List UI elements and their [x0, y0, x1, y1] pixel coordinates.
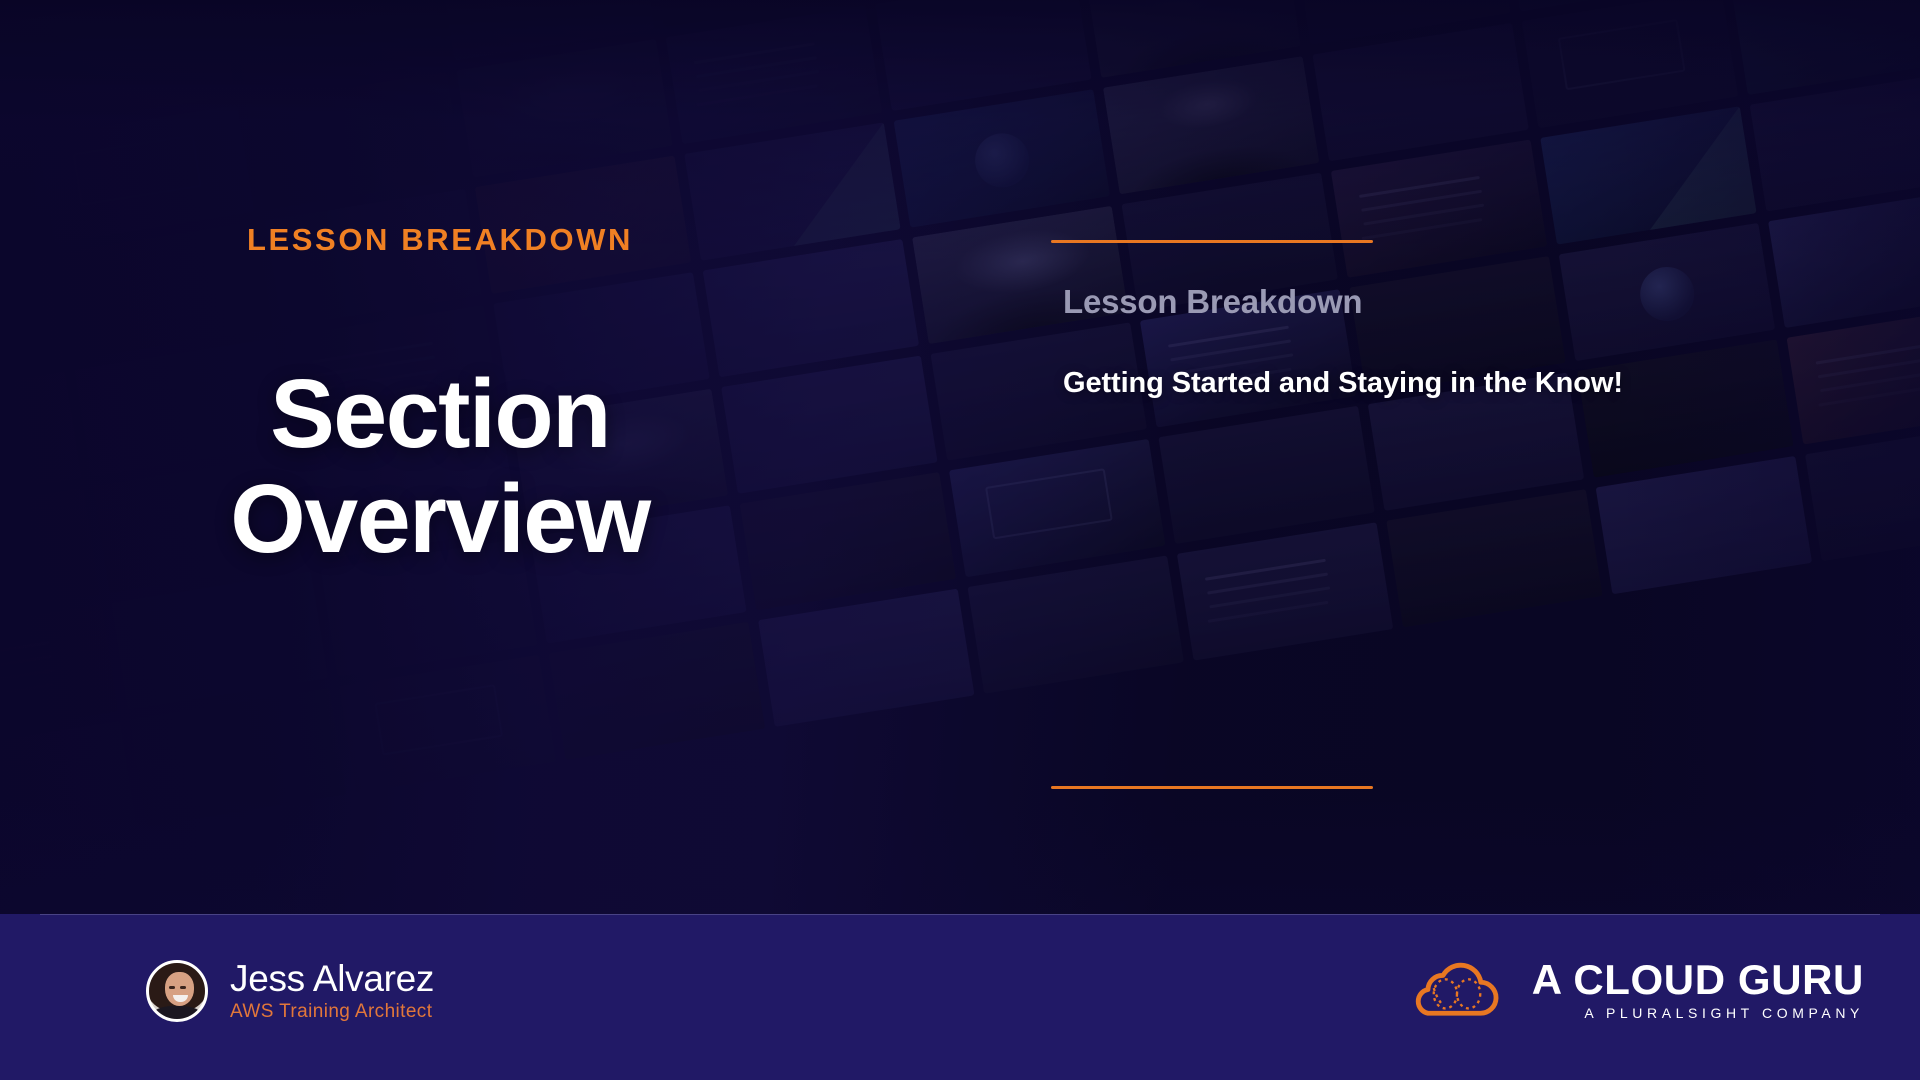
presenter-block: Jess Alvarez AWS Training Architect	[146, 960, 434, 1023]
presenter-text: Jess Alvarez AWS Training Architect	[230, 960, 434, 1023]
slide-root: Lesson Breakdown Section Overview Lesson…	[0, 0, 1920, 1080]
eyebrow-label: Lesson Breakdown	[0, 222, 880, 258]
page-title-line-2: Overview	[0, 467, 880, 572]
slide-content: Lesson Breakdown Section Overview Lesson…	[0, 0, 1920, 1080]
brand-text: A CLOUD GURU A PLURALSIGHT COMPANY	[1532, 958, 1864, 1021]
page-title-line-1: Section	[0, 362, 880, 467]
brand-block: A CLOUD GURU A PLURALSIGHT COMPANY	[1408, 958, 1864, 1021]
panel-label: Lesson Breakdown	[1063, 283, 1362, 321]
brand-tagline: A PLURALSIGHT COMPANY	[1584, 1005, 1864, 1021]
cloud-icon	[1408, 959, 1506, 1021]
page-title: Section Overview	[0, 362, 880, 572]
panel-rule-top	[1051, 240, 1373, 243]
panel-rule-bottom	[1051, 786, 1373, 789]
avatar	[146, 960, 208, 1022]
panel-headline: Getting Started and Staying in the Know!	[1063, 365, 1763, 403]
presenter-name: Jess Alvarez	[230, 960, 434, 999]
footer-divider	[40, 914, 1880, 915]
brand-name: A CLOUD GURU	[1532, 958, 1864, 1002]
presenter-role: AWS Training Architect	[230, 1001, 434, 1023]
